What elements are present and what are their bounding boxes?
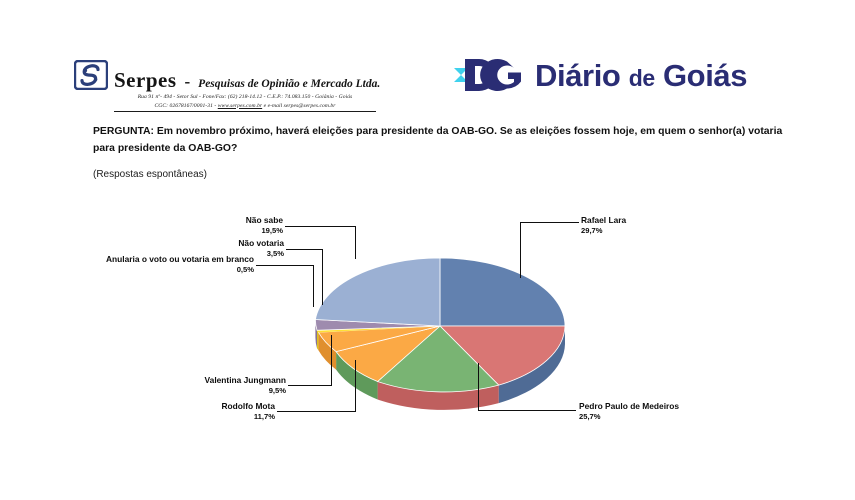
callout-name-pedro: Pedro Paulo de Medeiros — [579, 401, 679, 411]
pie-chart-graphic — [305, 231, 575, 416]
serpes-cgc-text: CGC: 02678167/0001-31 - — [155, 103, 218, 109]
serpes-dash: - — [183, 73, 193, 91]
leader-line-nao-sabe-horizontal — [285, 226, 356, 227]
callout-value-nao-sabe: 19,5% — [150, 226, 283, 236]
leader-line-pedro-vertical — [478, 363, 479, 411]
slide-page: Serpes - Pesquisas de Opinião e Mercado … — [0, 0, 855, 500]
diario-de-goias-logo-block: Diário de Goiás — [452, 54, 747, 96]
callout-label-valentina: Valentina Jungmann 9,5% — [130, 375, 286, 396]
leader-line-rafael-vertical — [520, 222, 521, 278]
serpes-address-line-2: CGC: 02678167/0001-31 - www.serpes.com.b… — [114, 102, 376, 111]
serpes-logo-block: Serpes - Pesquisas de Opinião e Mercado … — [74, 60, 384, 112]
serpes-wordmark: Serpes — [114, 70, 177, 91]
leader-line-nao-votaria-horizontal — [286, 249, 323, 250]
callout-value-valentina: 9,5% — [130, 386, 286, 396]
leader-line-valentina-vertical — [331, 335, 332, 386]
callout-name-anularia: Anularia o voto ou votaria em branco — [106, 254, 254, 264]
callout-value-anularia: 0,5% — [40, 265, 254, 275]
callout-name-nao-sabe: Não sabe — [246, 215, 283, 225]
dg-name-primary: Diário — [535, 58, 620, 93]
callout-label-anularia: Anularia o voto ou votaria em branco 0,5… — [40, 254, 254, 275]
leader-line-valentina-horizontal — [288, 385, 332, 386]
pie-slice-nao-sabe[interactable] — [315, 258, 440, 326]
leader-line-rodolfo-horizontal — [277, 411, 356, 412]
pie-slice-rafael-lara[interactable] — [440, 258, 565, 326]
serpes-s-monogram-icon — [74, 60, 108, 90]
callout-label-pedro: Pedro Paulo de Medeiros 25,7% — [579, 401, 679, 422]
pie-chart-svg — [305, 231, 575, 416]
serpes-address-line-1: Rua 91 nº- 494 - Setor Sul - Fone/Fax: (… — [114, 93, 376, 102]
serpes-address-block: Rua 91 nº- 494 - Setor Sul - Fone/Fax: (… — [114, 93, 376, 112]
diario-de-goias-wordmark: Diário de Goiás — [535, 60, 747, 91]
callout-label-rafael: Rafael Lara 29,7% — [581, 215, 626, 236]
leader-line-anularia-horizontal — [256, 265, 314, 266]
callout-name-nao-votaria: Não votaria — [238, 238, 284, 248]
leader-line-anularia-vertical — [313, 265, 314, 307]
callout-name-rafael: Rafael Lara — [581, 215, 626, 225]
callout-name-valentina: Valentina Jungmann — [205, 375, 286, 385]
serpes-email-separator: e e-mail — [262, 103, 283, 109]
slide-header: Serpes - Pesquisas de Opinião e Mercado … — [0, 46, 855, 112]
callout-name-rodolfo: Rodolfo Mota — [222, 401, 276, 411]
leader-line-nao-votaria-vertical — [322, 249, 323, 305]
leader-line-rafael-horizontal — [520, 222, 579, 223]
leader-line-nao-sabe-vertical — [355, 226, 356, 259]
leader-line-rodolfo-vertical — [355, 360, 356, 412]
callout-value-rafael: 29,7% — [581, 226, 626, 236]
callout-label-rodolfo: Rodolfo Mota 11,7% — [130, 401, 275, 422]
serpes-tagline: Pesquisas de Opinião e Mercado Ltda. — [198, 79, 380, 92]
dg-arrow-monogram-icon — [452, 54, 526, 96]
callout-value-pedro: 25,7% — [579, 412, 679, 422]
callout-value-rodolfo: 11,7% — [130, 412, 275, 422]
leader-line-pedro-horizontal — [478, 410, 576, 411]
spontaneous-answers-note: (Respostas espontâneas) — [93, 169, 207, 180]
serpes-logo-top-row: Serpes - Pesquisas de Opinião e Mercado … — [74, 60, 384, 91]
pie-chart-area: Não sabe 19,5% Não votaria 3,5% Anularia… — [0, 195, 855, 455]
dg-name-connector: de — [629, 65, 655, 91]
question-text: PERGUNTA: Em novembro próximo, haverá el… — [93, 124, 783, 158]
serpes-website-link[interactable]: www.serpes.com.br — [218, 103, 262, 109]
dg-name-secondary: Goiás — [663, 58, 747, 93]
serpes-email-text: serpes@serpes.com.br — [284, 103, 336, 109]
callout-label-nao-sabe: Não sabe 19,5% — [150, 215, 283, 236]
